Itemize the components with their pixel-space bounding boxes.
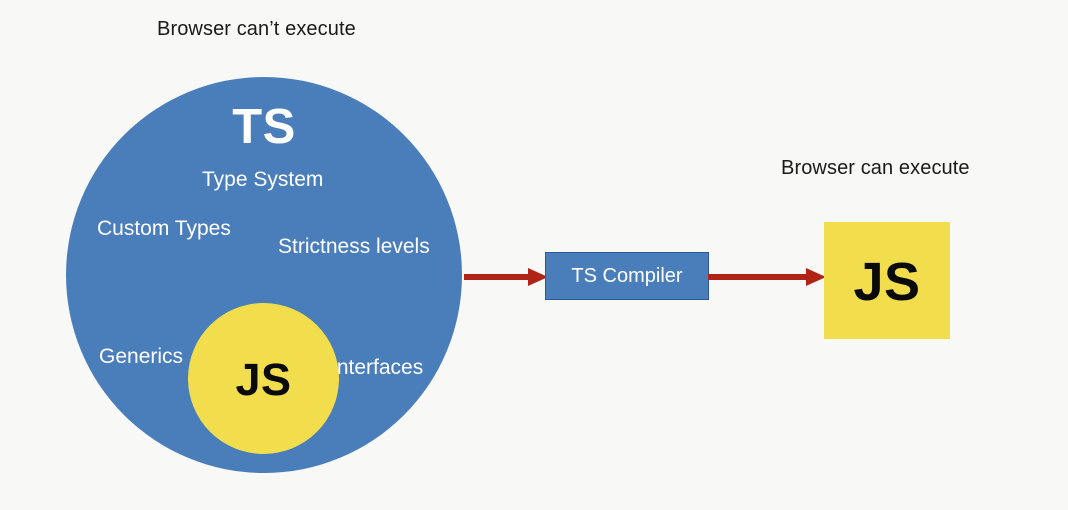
typescript-title: TS xyxy=(66,99,462,155)
feature-label-type-system: Type System xyxy=(202,168,323,192)
typescript-circle: TS Type System Custom Types Strictness l… xyxy=(66,77,462,473)
feature-label-interfaces: Interfaces xyxy=(331,356,423,380)
caption-browser-cannot-execute: Browser can’t execute xyxy=(157,18,356,41)
feature-label-generics: Generics xyxy=(99,345,183,369)
javascript-output-label: JS xyxy=(853,251,920,313)
ts-to-compiler-arrow xyxy=(462,265,550,289)
javascript-output-box: JS xyxy=(824,222,950,339)
ts-compiler-box: TS Compiler xyxy=(545,252,709,300)
feature-label-custom-types: Custom Types xyxy=(97,217,231,241)
javascript-subset-label: JS xyxy=(235,354,291,406)
ts-compiler-label: TS Compiler xyxy=(571,265,682,288)
feature-label-strictness-levels: Strictness levels xyxy=(278,235,430,259)
compiler-to-js-arrow xyxy=(706,265,828,289)
javascript-subset-circle: JS xyxy=(188,303,339,454)
diagram-canvas: Browser can’t execute Browser can execut… xyxy=(0,0,1068,510)
caption-browser-can-execute: Browser can execute xyxy=(781,157,970,180)
